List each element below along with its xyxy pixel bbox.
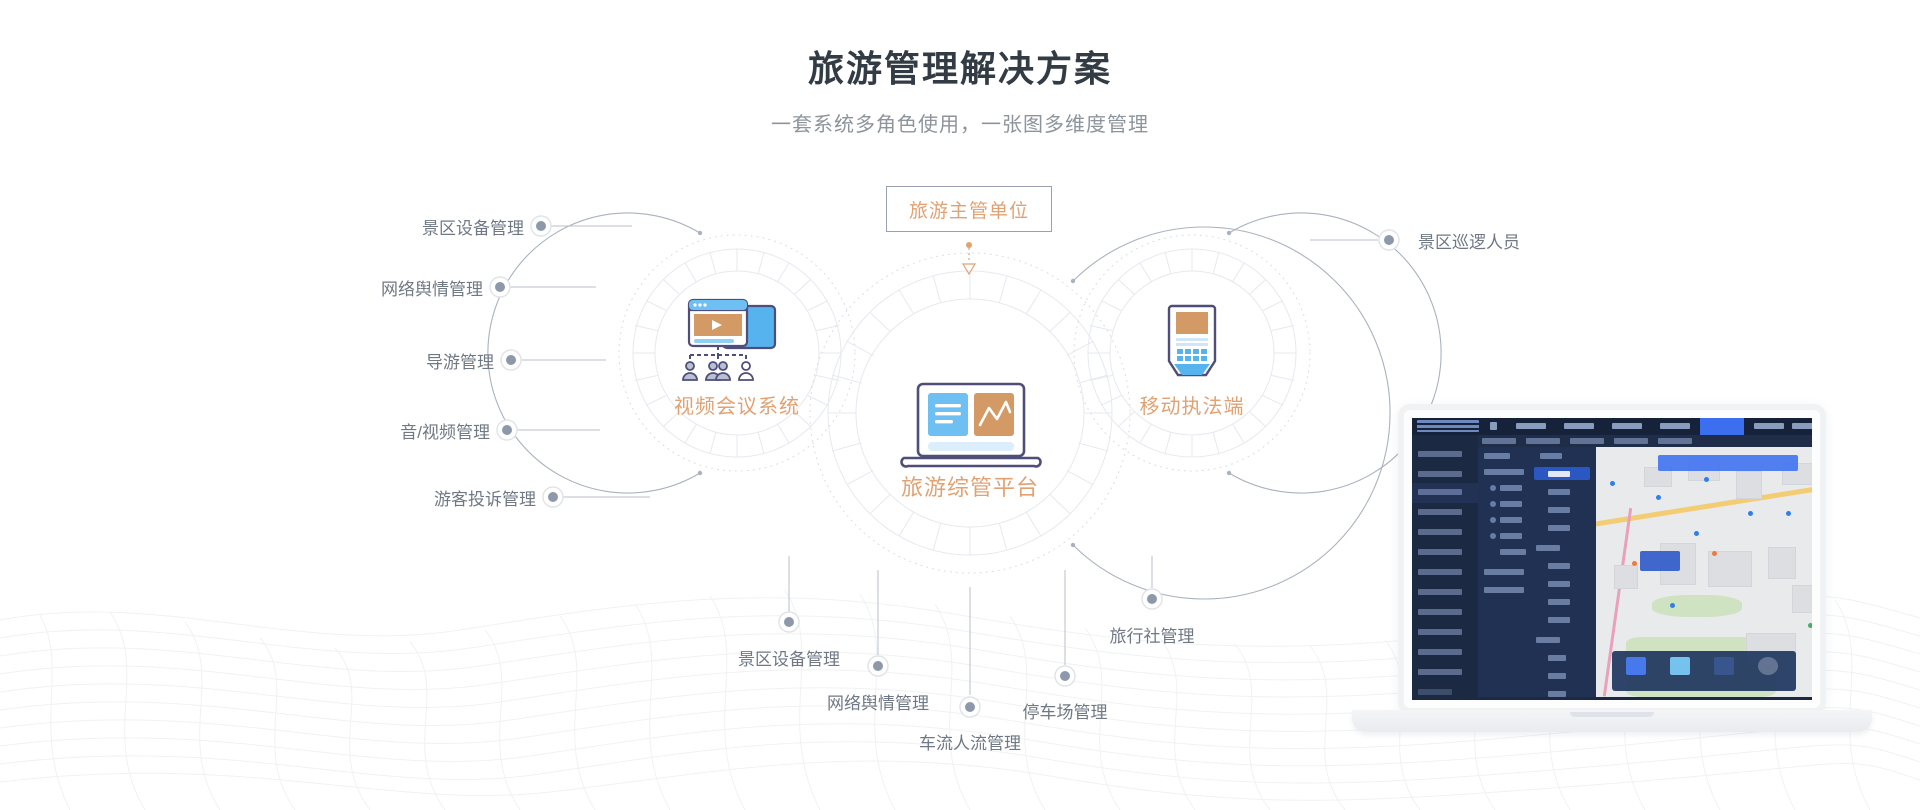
tab-4[interactable] xyxy=(1658,438,1692,444)
panel-title xyxy=(1484,453,1510,459)
bottom-label-0[interactable]: 景区设备管理 xyxy=(669,645,909,670)
map-action-dock[interactable] xyxy=(1612,651,1796,691)
nav-item-2[interactable] xyxy=(1612,423,1642,429)
map-pin-4[interactable] xyxy=(1694,531,1699,536)
sidebar-item-11[interactable] xyxy=(1418,669,1462,675)
dashboard-sidebar xyxy=(1412,435,1478,700)
left-label-0[interactable]: 景区设备管理 xyxy=(280,214,524,239)
video-window-icon xyxy=(683,300,775,380)
panel-item-3[interactable] xyxy=(1500,533,1522,539)
left-connectors xyxy=(507,226,650,497)
sidebar-item-7[interactable] xyxy=(1418,589,1462,595)
dock-icon-command-center[interactable] xyxy=(1626,657,1646,675)
panel-layer-2[interactable] xyxy=(1548,507,1570,513)
sidebar-item-2[interactable] xyxy=(1418,489,1462,495)
map-pin-0[interactable] xyxy=(1610,481,1615,486)
panel-item-0[interactable] xyxy=(1500,485,1522,491)
sidebar-footer-text xyxy=(1418,689,1452,695)
panel-right-title xyxy=(1540,453,1562,459)
right-label-0[interactable]: 景区巡逻人员 xyxy=(1418,228,1638,253)
map-pin-2[interactable] xyxy=(1704,477,1709,482)
dock-icon-analysis[interactable] xyxy=(1758,657,1778,675)
map-block-5 xyxy=(1708,551,1752,587)
nav-item-active[interactable] xyxy=(1700,418,1744,435)
sidebar-item-1[interactable] xyxy=(1418,471,1462,477)
panel-bullet-2 xyxy=(1490,517,1496,523)
left-label-2[interactable]: 导游管理 xyxy=(250,348,494,373)
laptop-base xyxy=(1352,710,1872,732)
sidebar-item-5[interactable] xyxy=(1418,549,1462,555)
panel-layer-0[interactable] xyxy=(1548,471,1570,477)
dock-icon-event[interactable] xyxy=(1670,657,1690,675)
panel-bullet-3 xyxy=(1490,533,1496,539)
dashboard-tabbar xyxy=(1478,435,1812,447)
map-pin-6[interactable] xyxy=(1786,511,1791,516)
panel-layer-1[interactable] xyxy=(1548,489,1570,495)
panel-layer-4[interactable] xyxy=(1548,563,1570,569)
panel-item-4[interactable] xyxy=(1500,549,1526,555)
sidebar-item-0[interactable] xyxy=(1418,451,1462,457)
map-pin-alert-0[interactable] xyxy=(1632,561,1637,566)
laptop-mockup xyxy=(1352,404,1872,772)
panel-item-2[interactable] xyxy=(1500,517,1522,523)
map-pin-green-0[interactable] xyxy=(1808,623,1812,628)
panel-group-2[interactable] xyxy=(1484,587,1524,593)
nav-item-0[interactable] xyxy=(1516,423,1546,429)
panel-group-0[interactable] xyxy=(1484,469,1524,475)
left-connector-dots xyxy=(490,216,563,507)
panel-group-1[interactable] xyxy=(1484,569,1524,575)
sidebar-item-3[interactable] xyxy=(1418,509,1462,515)
map-canvas[interactable] xyxy=(1596,447,1812,697)
bottom-label-2[interactable]: 车流人流管理 xyxy=(850,729,1090,754)
bottom-label-4[interactable]: 旅行社管理 xyxy=(1032,622,1272,647)
panel-layer-5[interactable] xyxy=(1548,581,1570,587)
menu-toggle-icon[interactable] xyxy=(1490,422,1497,430)
dock-icon-devices[interactable] xyxy=(1714,657,1734,675)
map-pin-1[interactable] xyxy=(1656,495,1661,500)
panel-section-1 xyxy=(1536,545,1560,551)
nav-item-6[interactable] xyxy=(1792,423,1812,429)
map-block-2 xyxy=(1736,471,1762,499)
bottom-label-3[interactable]: 停车场管理 xyxy=(945,698,1185,723)
panel-bullet-1 xyxy=(1490,501,1496,507)
left-label-1[interactable]: 网络舆情管理 xyxy=(240,275,483,300)
panel-layer-8[interactable] xyxy=(1548,655,1566,661)
tab-1[interactable] xyxy=(1526,438,1560,444)
map-block-9 xyxy=(1614,565,1638,589)
map-toolbar[interactable] xyxy=(1658,455,1798,471)
dashboard-topbar xyxy=(1412,418,1812,435)
map-pin-3[interactable] xyxy=(1748,511,1753,516)
sidebar-item-8[interactable] xyxy=(1418,609,1462,615)
nav-item-1[interactable] xyxy=(1564,423,1594,429)
panel-item-1[interactable] xyxy=(1500,501,1522,507)
left-label-4[interactable]: 游客投诉管理 xyxy=(292,485,536,510)
map-block-7 xyxy=(1792,585,1812,613)
sidebar-item-6[interactable] xyxy=(1418,569,1462,575)
tab-2[interactable] xyxy=(1570,438,1604,444)
map-info-card[interactable] xyxy=(1640,551,1680,571)
sidebar-item-10[interactable] xyxy=(1418,649,1462,655)
map-pin-5[interactable] xyxy=(1670,603,1675,608)
gov-unit-box[interactable]: 旅游主管单位 xyxy=(886,186,1052,232)
layer-panel xyxy=(1478,447,1596,697)
nav-item-3[interactable] xyxy=(1660,423,1690,429)
panel-layer-3[interactable] xyxy=(1548,525,1570,531)
panel-layer-6[interactable] xyxy=(1548,599,1570,605)
map-pin-alert-1[interactable] xyxy=(1712,551,1717,556)
ring-label-tourism-platform: 旅游综管平台 xyxy=(870,470,1070,502)
panel-section-2 xyxy=(1536,637,1560,643)
page-root: 旅游管理解决方案 一套系统多角色使用，一张图多维度管理 xyxy=(0,0,1920,810)
right-connectors xyxy=(1310,230,1399,250)
gov-unit-label: 旅游主管单位 xyxy=(909,196,1029,223)
handheld-device-icon xyxy=(1169,306,1215,375)
map-block-6 xyxy=(1768,547,1796,579)
gov-to-platform-connector xyxy=(963,242,975,274)
sidebar-item-4[interactable] xyxy=(1418,529,1462,535)
sidebar-item-9[interactable] xyxy=(1418,629,1462,635)
panel-layer-10[interactable] xyxy=(1548,691,1566,697)
panel-layer-9[interactable] xyxy=(1548,673,1566,679)
laptop-lid xyxy=(1398,404,1826,714)
ring-label-mobile-enforcement: 移动执法端 xyxy=(1098,390,1286,419)
panel-layer-7[interactable] xyxy=(1548,617,1570,623)
laptop-dashboard-icon xyxy=(902,384,1041,466)
tab-0[interactable] xyxy=(1482,438,1516,444)
tab-3[interactable] xyxy=(1614,438,1648,444)
dashboard-screen[interactable] xyxy=(1412,418,1812,700)
dashboard-logo xyxy=(1417,420,1479,432)
nav-item-5[interactable] xyxy=(1754,423,1784,429)
ring-video-conference xyxy=(488,213,855,493)
map-green-area-0 xyxy=(1652,595,1742,617)
left-label-3[interactable]: 音/视频管理 xyxy=(246,418,490,443)
ring-label-video-conference: 视频会议系统 xyxy=(640,390,834,419)
panel-bullet-0 xyxy=(1490,485,1496,491)
